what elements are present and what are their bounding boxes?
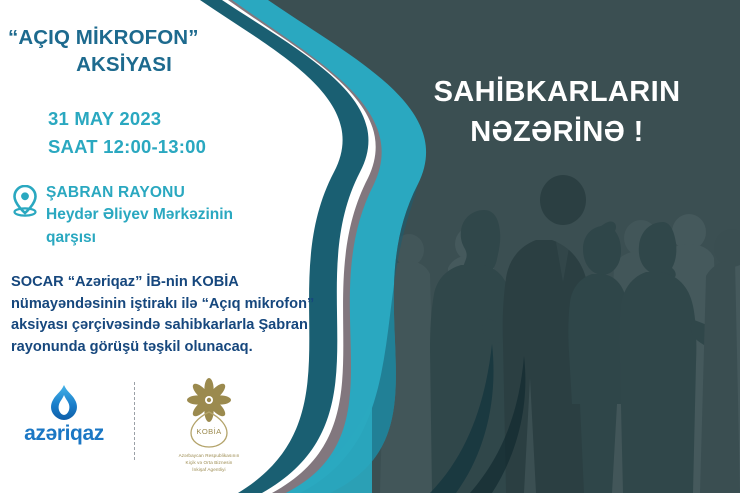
location-venue-cont: qarşısı [46, 227, 233, 249]
logo-divider [134, 382, 135, 460]
main-headline: SAHİBKARLARIN NƏZƏRİNƏ ! [392, 72, 722, 152]
azeriqaz-logo: azəriqaz [8, 378, 120, 444]
kobia-subtitle-line1: Azərbaycan Respublikasının [179, 453, 240, 460]
kobia-subtitle-line2: Kiçik və Orta Biznesin [179, 460, 240, 467]
location-venue: Heydər Əliyev Mərkəzinin [46, 204, 233, 226]
kobia-logo: KOBİA Azərbaycan Respublikasının Kiçik v… [149, 378, 269, 474]
gas-flame-icon [47, 384, 81, 422]
location-district: ŞABRAN RAYONU [46, 182, 233, 204]
kobia-flower-icon: KOBİA [177, 378, 241, 450]
event-location: ŞABRAN RAYONU Heydər Əliyev Mərkəzinin q… [12, 182, 312, 249]
headline-line2: NƏZƏRİNƏ ! [392, 112, 722, 152]
kobia-subtitle-line3: İnkişaf Agentliyi [179, 467, 240, 474]
event-title-line2: AKSİYASI [8, 51, 258, 78]
event-title-line1: “AÇIQ MİKROFON” [8, 24, 258, 51]
location-pin-icon [12, 185, 38, 217]
promotional-poster: “AÇIQ MİKROFON” AKSİYASI 31 MAY 2023 SAA… [0, 0, 740, 493]
kobia-subtitle: Azərbaycan Respublikasının Kiçik və Orta… [179, 453, 240, 474]
event-description: SOCAR “Azəriqaz” İB-nin KOBİA nümayəndəs… [11, 272, 316, 358]
svg-text:KOBİA: KOBİA [196, 427, 222, 436]
headline-line1: SAHİBKARLARIN [392, 72, 722, 112]
event-title: “AÇIQ MİKROFON” AKSİYASI [8, 24, 258, 78]
event-location-text: ŞABRAN RAYONU Heydər Əliyev Mərkəzinin q… [46, 182, 233, 249]
logo-strip: azəriqaz [8, 378, 308, 488]
event-time: SAAT 12:00-13:00 [48, 133, 206, 161]
event-datetime: 31 MAY 2023 SAAT 12:00-13:00 [48, 105, 206, 161]
event-date: 31 MAY 2023 [48, 105, 206, 133]
azeriqaz-wordmark: azəriqaz [24, 423, 104, 444]
